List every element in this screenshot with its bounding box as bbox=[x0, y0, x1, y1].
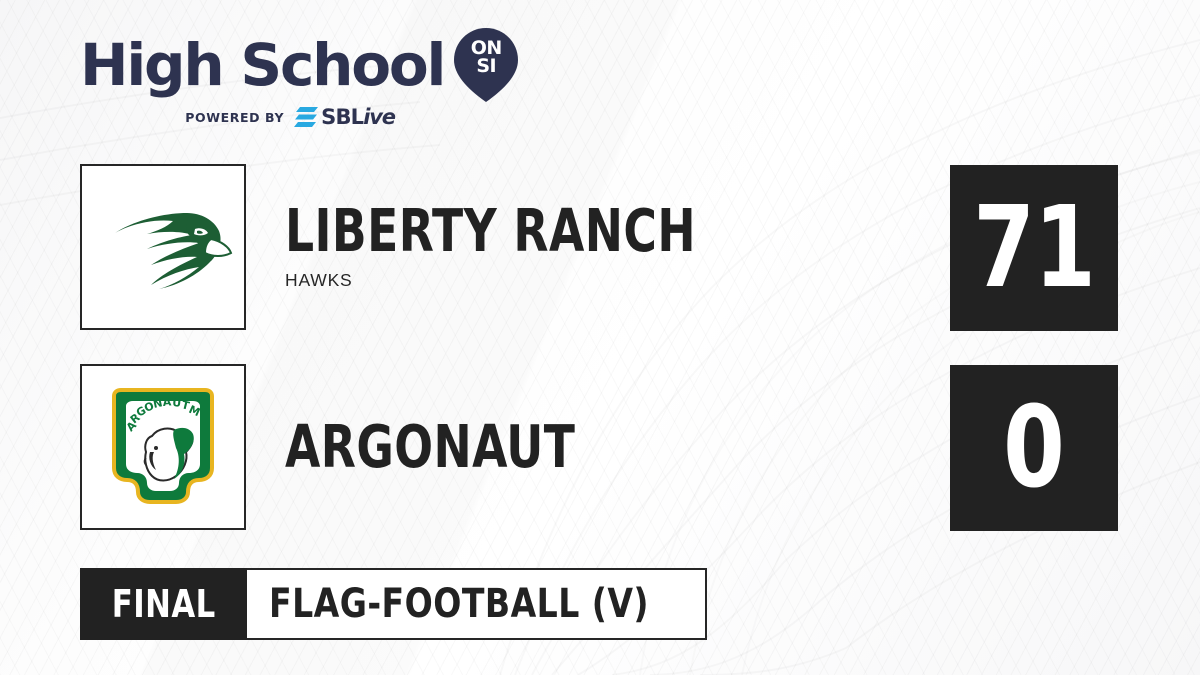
sblive-logo: SBLive bbox=[294, 107, 395, 128]
scoreboard-graphic: High School ON SI POWERED BY SBLive bbox=[0, 0, 1200, 675]
team-score-box: 71 bbox=[950, 165, 1118, 331]
sblive-wordmark: SBLive bbox=[321, 107, 395, 128]
brand-logo: High School ON SI POWERED BY SBLive bbox=[80, 28, 510, 138]
brand-wordmark: High School bbox=[80, 36, 444, 94]
powered-by-label: POWERED BY bbox=[185, 110, 284, 125]
status-sport-block: FLAG-FOOTBALL (V) bbox=[247, 568, 706, 640]
team-row: A R G O N A U T M bbox=[80, 364, 1120, 534]
team-score: 71 bbox=[973, 192, 1095, 304]
game-status-bar: FINAL FLAG-FOOTBALL (V) bbox=[80, 568, 707, 640]
team-text-block: ARGONAUT bbox=[285, 364, 623, 530]
svg-text:A: A bbox=[162, 395, 172, 409]
on-si-pin-icon: ON SI bbox=[454, 28, 518, 102]
mustang-shield-logo-icon: A R G O N A U T M bbox=[100, 384, 226, 510]
team-logo-tile: A R G O N A U T M bbox=[80, 364, 246, 530]
team-name: LIBERTY RANCH bbox=[285, 203, 696, 259]
status-state-label: FINAL bbox=[112, 582, 216, 626]
team-name: ARGONAUT bbox=[285, 419, 575, 475]
brand-logo-row: High School ON SI bbox=[80, 28, 510, 102]
team-score-box: 0 bbox=[950, 365, 1118, 531]
status-sport-label: FLAG-FOOTBALL (V) bbox=[269, 581, 649, 627]
team-score: 0 bbox=[1004, 392, 1065, 504]
powered-by-row: POWERED BY SBLive bbox=[80, 106, 500, 128]
status-state-block: FINAL bbox=[80, 568, 247, 640]
team-text-block: LIBERTY RANCH HAWKS bbox=[285, 164, 763, 330]
on-si-pin-text: ON SI bbox=[454, 39, 518, 75]
hawk-head-logo-icon bbox=[93, 177, 233, 317]
team-mascot: HAWKS bbox=[285, 270, 763, 291]
pin-line-si: SI bbox=[454, 57, 518, 75]
team-row: LIBERTY RANCH HAWKS 71 bbox=[80, 164, 1120, 334]
sblive-main: SBL bbox=[321, 105, 363, 129]
sblive-bolt-icon bbox=[294, 107, 318, 127]
sblive-suffix: ive bbox=[363, 105, 395, 129]
team-logo-tile bbox=[80, 164, 246, 330]
